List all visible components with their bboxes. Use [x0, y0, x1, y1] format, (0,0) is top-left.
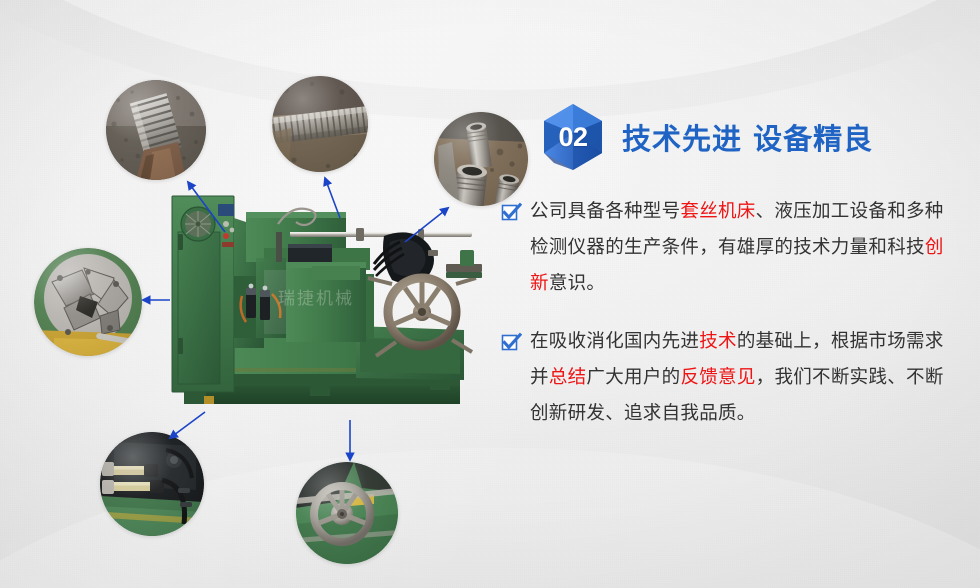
feature-bullet-list: 公司具备各种型号套丝机床、液压加工设备和多种检测仪器的生产条件，有雄厚的技术力量…: [500, 194, 962, 432]
section-heading-text: 技术先进 设备精良: [622, 116, 873, 158]
bullet-segment: 意识。: [549, 273, 605, 294]
feature-content: 02 技术先进 设备精良 公司具备各种型号套丝机床、液压加工设备和多种检测仪器的…: [500, 104, 962, 454]
bullet-segment: 在吸收消化国内先进: [530, 331, 699, 352]
bullet-segment-highlight: 套丝机床: [680, 201, 755, 222]
detail-circle-die-head-chuck: [34, 248, 142, 356]
feature-bullet-item: 公司具备各种型号套丝机床、液压加工设备和多种检测仪器的生产条件，有雄厚的技术力量…: [500, 194, 962, 302]
detail-circle-hydraulic-fittings: [100, 432, 204, 536]
detail-circle-handwheel: [296, 462, 398, 564]
thread-rolling-machine-photo: 瑞捷机械: [160, 188, 492, 422]
detail-circle-threaded-bar-top-center: [272, 76, 368, 172]
feature-bullet-item: 在吸收消化国内先进技术的基础上，根据市场需求并总结广大用户的反馈意见，我们不断实…: [500, 324, 962, 432]
section-number-text: 02: [542, 103, 604, 171]
section-number-badge: 02: [542, 103, 604, 171]
bullet-segment: 广大用户的: [586, 367, 680, 388]
bullet-segment-highlight: 反馈意见: [680, 367, 755, 388]
detail-circle-threaded-rod-top-left: [106, 80, 206, 180]
checkbox-checked-icon: [500, 201, 522, 223]
bullet-text: 在吸收消化国内先进技术的基础上，根据市场需求并总结广大用户的反馈意见，我们不断实…: [530, 331, 944, 424]
checkbox-checked-icon: [500, 331, 522, 353]
section-heading: 02 技术先进 设备精良: [500, 104, 962, 170]
bullet-text: 公司具备各种型号套丝机床、液压加工设备和多种检测仪器的生产条件，有雄厚的技术力量…: [530, 201, 944, 294]
banner-stage: 瑞捷机械: [0, 0, 980, 588]
bullet-segment-highlight: 技术: [699, 331, 737, 352]
bullet-segment-highlight: 总结: [549, 367, 587, 388]
bullet-segment: 公司具备各种型号: [530, 201, 680, 222]
